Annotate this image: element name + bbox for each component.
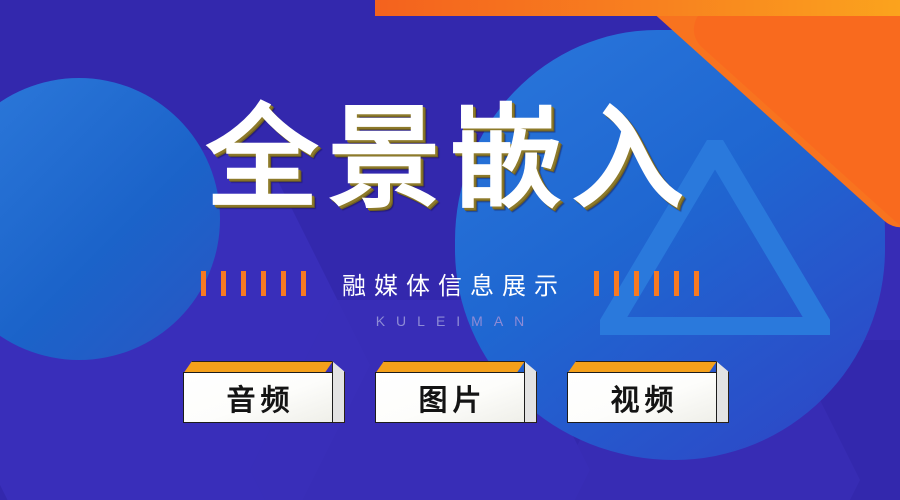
button-audio[interactable]: 音频: [183, 372, 333, 434]
button-side-bevel: [716, 361, 729, 423]
tick-mark: [261, 271, 266, 296]
promo-banner: 全景嵌入 融媒体信息展示 KULEIMAN: [0, 0, 900, 500]
tick-mark: [301, 271, 306, 296]
tick-mark: [674, 271, 679, 296]
button-video-label: 视频: [567, 372, 717, 423]
button-video[interactable]: 视频: [567, 372, 717, 434]
tick-mark: [281, 271, 286, 296]
tick-mark: [241, 271, 246, 296]
tick-marks-right: [594, 271, 699, 296]
tick-mark: [221, 271, 226, 296]
tick-mark: [594, 271, 599, 296]
button-side-bevel: [332, 361, 345, 423]
subtitle-row: 融媒体信息展示: [0, 266, 900, 301]
category-button-row: 音频 图片 视频: [0, 362, 900, 434]
tick-mark: [614, 271, 619, 296]
button-audio-label: 音频: [183, 372, 333, 423]
banner-latin-subtitle: KULEIMAN: [0, 313, 900, 329]
tick-mark: [634, 271, 639, 296]
banner-title: 全景嵌入: [0, 104, 900, 216]
button-side-bevel: [524, 361, 537, 423]
tick-mark: [654, 271, 659, 296]
tick-marks-left: [201, 271, 306, 296]
tick-mark: [694, 271, 699, 296]
banner-subtitle: 融媒体信息展示: [334, 266, 566, 301]
banner-content: 全景嵌入 融媒体信息展示 KULEIMAN: [0, 0, 900, 500]
button-image-label: 图片: [375, 372, 525, 423]
tick-mark: [201, 271, 206, 296]
button-image[interactable]: 图片: [375, 372, 525, 434]
